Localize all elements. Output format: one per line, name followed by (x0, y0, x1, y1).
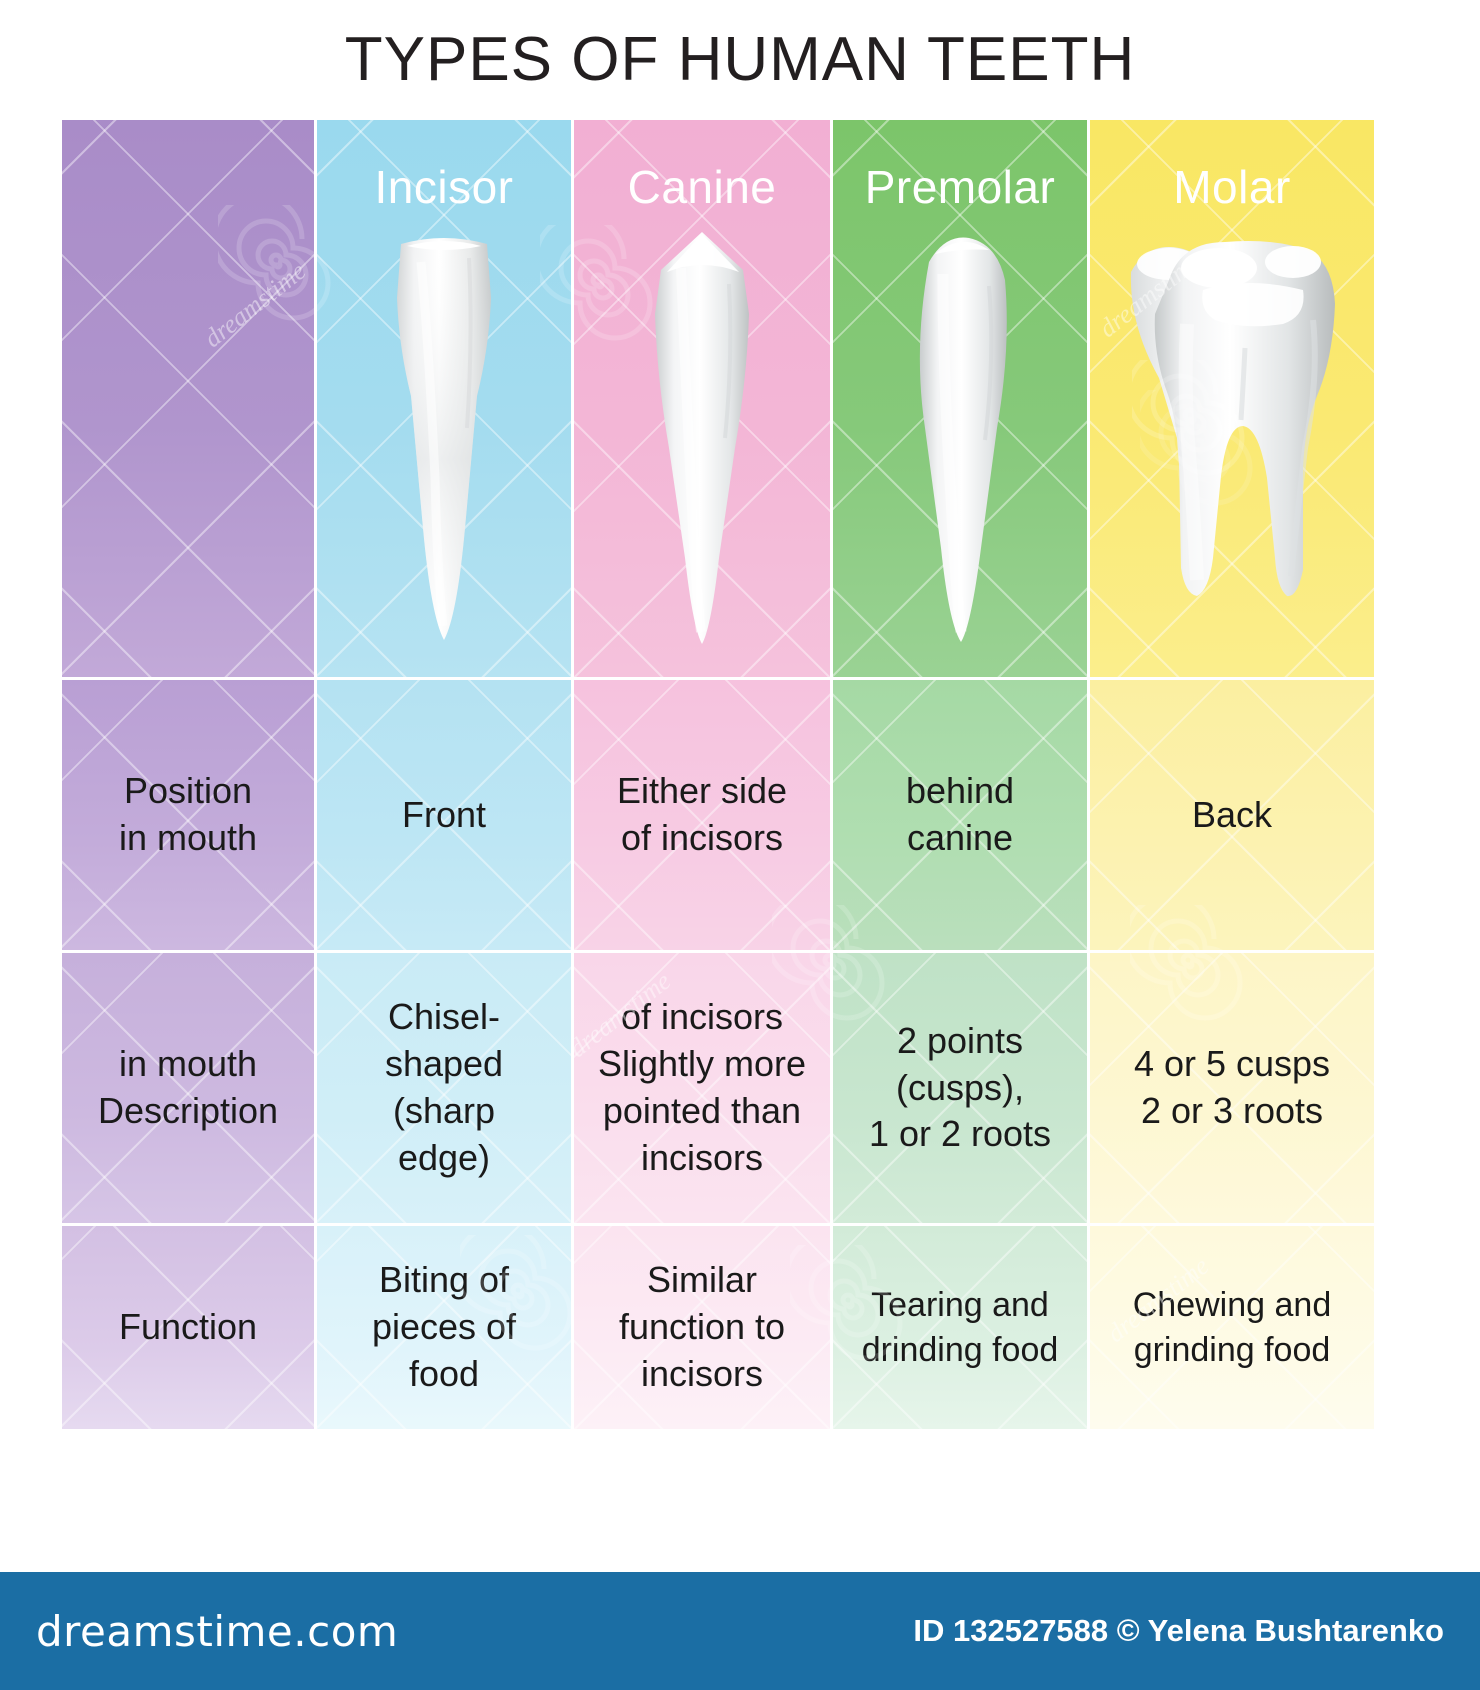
watermark-text: dreamstime (704, 1446, 817, 1544)
molar-tooth-image (1090, 228, 1374, 669)
table-corner-cell (62, 120, 314, 677)
column-header-canine: Canine (574, 120, 830, 677)
row-label-text: Positionin mouth (119, 768, 257, 862)
cell-position-canine: Either sideof incisors (574, 680, 830, 950)
cell-value: 4 or 5 cusps2 or 3 roots (1134, 1041, 1330, 1135)
row-label-text: in mouthDescription (98, 1041, 278, 1135)
cell-value: 2 points(cusps),1 or 2 roots (869, 1018, 1051, 1158)
title-bar: TYPES OF HUMAN TEETH (0, 0, 1480, 118)
incisor-tooth-image (317, 228, 571, 669)
column-header-label: Premolar (865, 160, 1056, 214)
cell-value: of incisorsSlightly morepointed thaninci… (598, 994, 806, 1181)
column-header-label: Canine (628, 160, 777, 214)
cell-position-premolar: behindcanine (833, 680, 1087, 950)
cell-function-molar: Chewing andgrinding food (1090, 1226, 1374, 1429)
cell-value: behindcanine (906, 768, 1014, 862)
cell-function-canine: Similarfunction toincisors (574, 1226, 830, 1429)
cell-value: Front (402, 792, 486, 839)
cell-value: Chisel-shaped(sharpedge) (385, 994, 503, 1181)
premolar-tooth-image (833, 228, 1087, 669)
teeth-comparison-table: Incisor (62, 120, 1362, 1420)
cell-value: Tearing anddrinding food (862, 1283, 1059, 1371)
cell-description-premolar: 2 points(cusps),1 or 2 roots (833, 953, 1087, 1223)
column-header-premolar: Premolar (833, 120, 1087, 677)
cell-position-incisor: Front (317, 680, 571, 950)
cell-value: Biting ofpieces offood (372, 1257, 516, 1397)
brand-text: dreamstime.com (36, 1607, 398, 1656)
column-header-label: Incisor (375, 160, 514, 214)
cell-description-incisor: Chisel-shaped(sharpedge) (317, 953, 571, 1223)
cell-value: Back (1192, 792, 1272, 839)
row-label-function: Function (62, 1226, 314, 1429)
row-label-position: Positionin mouth (62, 680, 314, 950)
column-header-molar: Molar (1090, 120, 1374, 677)
footer-bar: dreamstime.com ID 132527588 © Yelena Bus… (0, 1572, 1480, 1690)
row-label-description: in mouthDescription (62, 953, 314, 1223)
cell-value: Either sideof incisors (617, 768, 787, 862)
row-label-text: Function (119, 1304, 257, 1351)
column-header-label: Molar (1173, 160, 1291, 214)
cell-position-molar: Back (1090, 680, 1374, 950)
dreamstime-logo: dreamstime.com (36, 1607, 398, 1656)
canine-tooth-image (574, 228, 830, 669)
page-title: TYPES OF HUMAN TEETH (345, 24, 1136, 95)
image-credit: ID 132527588 © Yelena Bushtarenko (913, 1613, 1444, 1649)
cell-description-canine: of incisorsSlightly morepointed thaninci… (574, 953, 830, 1223)
cell-function-premolar: Tearing anddrinding food (833, 1226, 1087, 1429)
cell-description-molar: 4 or 5 cusps2 or 3 roots (1090, 953, 1374, 1223)
column-header-incisor: Incisor (317, 120, 571, 677)
cell-value: Chewing andgrinding food (1133, 1283, 1331, 1371)
cell-function-incisor: Biting ofpieces offood (317, 1226, 571, 1429)
cell-value: Similarfunction toincisors (619, 1257, 785, 1397)
